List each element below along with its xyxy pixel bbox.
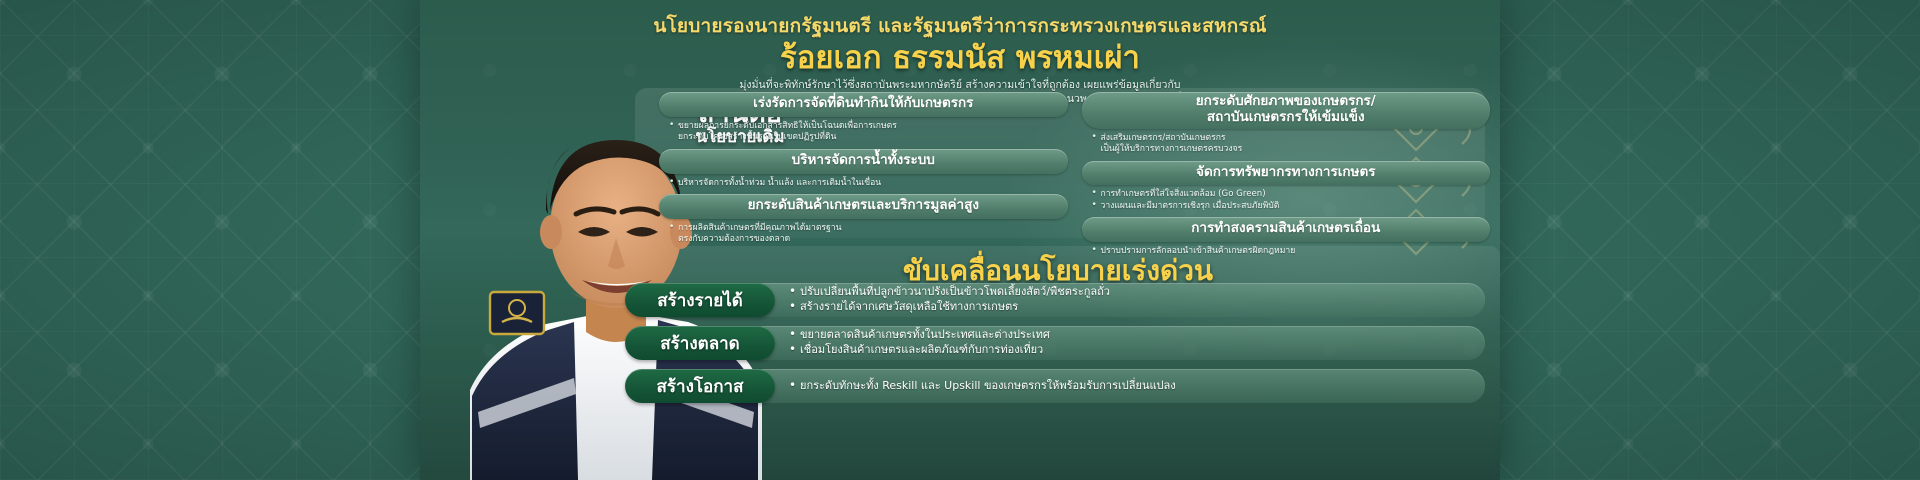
urgent-policy-bullet: ยกระดับทักษะทั้ง Reskill และ Upskill ของ… — [789, 379, 1469, 394]
policy-pill[interactable]: บริหารจัดการน้ำทั้งระบบ — [659, 149, 1068, 174]
urgent-policy-tag[interactable]: สร้างรายได้ — [625, 283, 775, 317]
urgent-policy-row[interactable]: สร้างรายได้ ปรับเปลี่ยนพื้นที่ปลูกข้าวนา… — [625, 283, 1485, 317]
urgent-policy-bullet: ขยายตลาดสินค้าเกษตรทั้งในประเทศและต่างปร… — [789, 328, 1469, 343]
urgent-policy-tag[interactable]: สร้างตลาด — [625, 326, 775, 360]
urgent-policy-row[interactable]: สร้างโอกาส ยกระดับทักษะทั้ง Reskill และ … — [625, 369, 1485, 403]
urgent-policy-bullet: ปรับเปลี่ยนพื้นที่ปลูกข้าวนาปรังเป็นข้าว… — [789, 285, 1469, 300]
policy-bullets: การทำเกษตรที่ใส่ใจสิ่งแวดล้อม (Go Green)… — [1082, 185, 1491, 217]
urgent-policy-row[interactable]: สร้างตลาด ขยายตลาดสินค้าเกษตรทั้งในประเท… — [625, 326, 1485, 360]
policy-bullets: ส่งเสริมเกษตรกร/สถาบันเกษตรกรเป็นผู้ให้บ… — [1082, 129, 1491, 161]
policy-pill[interactable]: ยกระดับสินค้าเกษตรและบริการมูลค่าสูง — [659, 194, 1068, 219]
policy-column-left: เร่งรัดการจัดที่ดินทำกินให้กับเกษตรกร ขย… — [659, 92, 1068, 240]
urgent-policy-rows: สร้างรายได้ ปรับเปลี่ยนพื้นที่ปลูกข้าวนา… — [625, 283, 1485, 412]
header-statement-line1: มุ่งมั่นที่จะพิทักษ์รักษาไว้ซึ่งสถาบันพร… — [420, 78, 1500, 92]
policy-pill[interactable]: เร่งรัดการจัดที่ดินทำกินให้กับเกษตรกร — [659, 92, 1068, 117]
poster-panel: นโยบายรองนายกรัฐมนตรี และรัฐมนตรีว่าการก… — [420, 0, 1500, 480]
urgent-policy-body: ยกระดับทักษะทั้ง Reskill และ Upskill ของ… — [761, 369, 1485, 403]
policy-pill[interactable]: จัดการทรัพยากรทางการเกษตร — [1082, 161, 1491, 186]
policy-bullets: ขยายผลการยกระดับเอกสารสิทธิให้เป็นโฉนดเพ… — [659, 117, 1068, 149]
policy-pill[interactable]: การทำสงครามสินค้าเกษตรเถื่อน — [1082, 217, 1491, 242]
policy-column-right: ยกระดับศักยภาพของเกษตรกร/ สถาบันเกษตรกรใ… — [1082, 92, 1491, 240]
urgent-policy-body: ปรับเปลี่ยนพื้นที่ปลูกข้าวนาปรังเป็นข้าว… — [761, 283, 1485, 317]
policy-bullets: การผลิตสินค้าเกษตรที่มีคุณภาพได้มาตรฐานต… — [659, 219, 1068, 251]
urgent-policy-bullet: เชื่อมโยงสินค้าเกษตรและผลิตภัณฑ์กับการท่… — [789, 343, 1469, 358]
urgent-policy-body: ขยายตลาดสินค้าเกษตรทั้งในประเทศและต่างปร… — [761, 326, 1485, 360]
policy-pill[interactable]: ยกระดับศักยภาพของเกษตรกร/ สถาบันเกษตรกรใ… — [1082, 92, 1491, 129]
urgent-policy-tag[interactable]: สร้างโอกาส — [625, 369, 775, 403]
header-subtitle-ministry: นโยบายรองนายกรัฐมนตรี และรัฐมนตรีว่าการก… — [420, 11, 1500, 41]
policy-bullet: การผลิตสินค้าเกษตรที่มีคุณภาพได้มาตรฐานต… — [669, 223, 1060, 246]
policy-bullets: บริหารจัดการทั้งน้ำท่วม น้ำแล้ง และการเต… — [659, 174, 1068, 194]
policy-bullet: การทำเกษตรที่ใส่ใจสิ่งแวดล้อม (Go Green) — [1092, 189, 1483, 200]
urgent-policy-bullet: สร้างรายได้จากเศษวัสดุเหลือใช้ทางการเกษต… — [789, 300, 1469, 315]
policy-bullet: ส่งเสริมเกษตรกร/สถาบันเกษตรกรเป็นผู้ให้บ… — [1092, 133, 1483, 156]
poster-header: นโยบายรองนายกรัฐมนตรี และรัฐมนตรีว่าการก… — [420, 0, 1500, 107]
policy-bullet: วางแผนและมีมาตรการเชิงรุก เมื่อประสบภัยพ… — [1092, 201, 1483, 212]
policy-bullet: ขยายผลการยกระดับเอกสารสิทธิให้เป็นโฉนดเพ… — [669, 121, 1060, 144]
policy-bullet: บริหารจัดการทั้งน้ำท่วม น้ำแล้ง และการเต… — [669, 178, 1060, 189]
header-minister-name: ร้อยเอก ธรรมนัส พรหมเผ่า — [420, 42, 1500, 75]
policy-columns: เร่งรัดการจัดที่ดินทำกินให้กับเกษตรกร ขย… — [650, 92, 1490, 240]
